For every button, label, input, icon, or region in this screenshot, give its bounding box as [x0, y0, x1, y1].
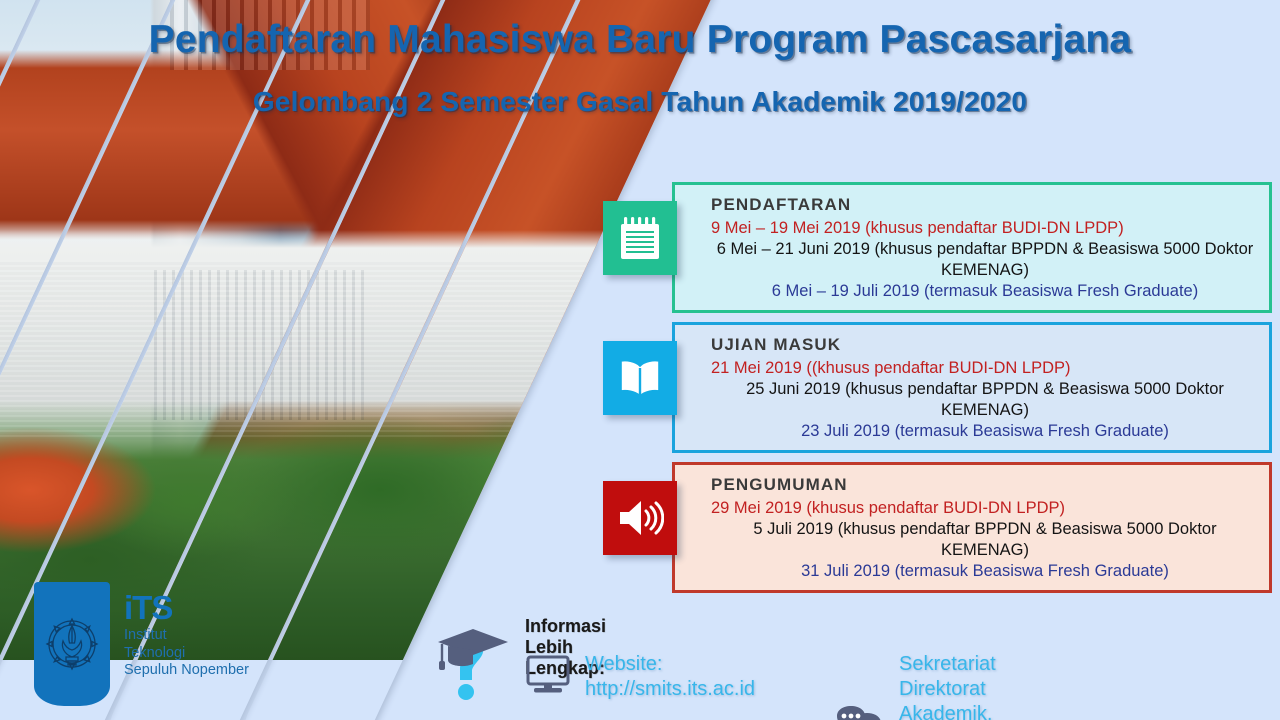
footer-office-line-1: Sekretariat Direktorat Akademik,: [899, 652, 1020, 720]
card-line-3: 23 Juli 2019 (termasuk Beasiswa Fresh Gr…: [711, 421, 1259, 442]
card-line-2: 25 Juni 2019 (khusus pendaftar BPPDN & B…: [711, 379, 1259, 421]
poster-subtitle: Gelombang 2 Semester Gasal Tahun Akademi…: [0, 86, 1280, 118]
info-card-pendaftaran: PENDAFTARAN 9 Mei – 19 Mei 2019 (khusus …: [672, 182, 1272, 313]
poster-canvas: Pendaftaran Mahasiswa Baru Program Pasca…: [0, 0, 1280, 720]
open-book-icon: [603, 341, 677, 415]
card-heading: UJIAN MASUK: [711, 335, 1259, 355]
footer-office-row: Sekretariat Direktorat Akademik, Gedung …: [835, 652, 1020, 720]
graduation-cap-question-icon: [430, 616, 516, 708]
its-sub-line-2: Teknologi: [124, 645, 249, 662]
card-line-3: 6 Mei – 19 Juli 2019 (termasuk Beasiswa …: [711, 281, 1259, 302]
its-sub-line-1: Institut: [124, 627, 249, 644]
info-card-pengumuman: PENGUMUMAN 29 Mei 2019 (khusus pendaftar…: [672, 462, 1272, 593]
card-line-2: 6 Mei – 21 Juni 2019 (khusus pendaftar B…: [711, 239, 1259, 281]
poster-title-text: Pendaftaran Mahasiswa Baru Program Pasca…: [149, 18, 1132, 61]
footer-website-text[interactable]: Website: http://smits.its.ac.id: [585, 652, 755, 702]
footer-website-row[interactable]: Website: http://smits.its.ac.id: [525, 652, 755, 702]
monitor-icon: [525, 654, 571, 701]
poster-title: Pendaftaran Mahasiswa Baru Program Pasca…: [0, 18, 1280, 62]
its-sub-line-3: Sepuluh Nopember: [124, 662, 249, 679]
its-logo: iTS Institut Teknologi Sepuluh Nopember: [34, 582, 249, 706]
footer-website-url[interactable]: http://smits.its.ac.id: [585, 677, 755, 702]
footer-office-text: Sekretariat Direktorat Akademik, Gedung …: [899, 652, 1020, 720]
info-card-ujian-masuk: UJIAN MASUK 21 Mei 2019 ((khusus pendaft…: [672, 322, 1272, 453]
card-line-2: 5 Juli 2019 (khusus pendaftar BPPDN & Be…: [711, 519, 1259, 561]
its-wordmark-block: iTS Institut Teknologi Sepuluh Nopember: [124, 582, 249, 680]
card-heading: PENGUMUMAN: [711, 475, 1259, 495]
card-line-3: 31 Juli 2019 (termasuk Beasiswa Fresh Gr…: [711, 561, 1259, 582]
card-line-1: 29 Mei 2019 (khusus pendaftar BUDI-DN LP…: [711, 498, 1259, 519]
card-heading: PENDAFTARAN: [711, 195, 1259, 215]
chat-bubbles-icon: [835, 703, 885, 720]
speaker-announcement-icon: [603, 481, 677, 555]
footer-website-label: Website:: [585, 652, 755, 677]
its-wordmark: iTS: [124, 592, 249, 623]
card-line-1: 9 Mei – 19 Mei 2019 (khusus pendaftar BU…: [711, 218, 1259, 239]
poster-subtitle-text: Gelombang 2 Semester Gasal Tahun Akademi…: [253, 86, 1027, 117]
card-line-1: 21 Mei 2019 ((khusus pendaftar BUDI-DN L…: [711, 358, 1259, 379]
its-emblem-shield: [34, 582, 110, 706]
notepad-icon: [603, 201, 677, 275]
